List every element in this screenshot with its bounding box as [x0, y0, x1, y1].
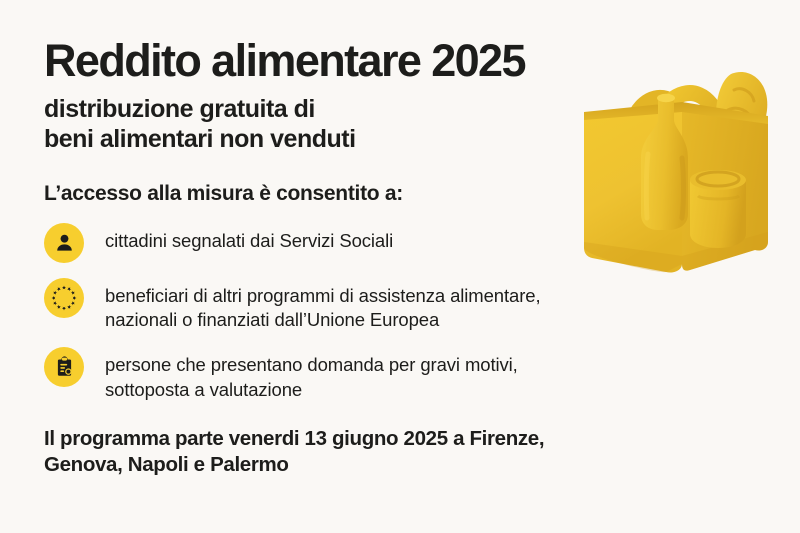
shopping-bag-illustration	[562, 28, 792, 288]
program-start-line-1: Il programma parte venerdi 13 giugno 202…	[44, 426, 664, 452]
program-start-line-2: Genova, Napoli e Palermo	[44, 452, 664, 478]
list-item-line-1: persone che presentano domanda per gravi…	[105, 353, 518, 377]
list-item-text: cittadini segnalati dai Servizi Sociali	[105, 222, 393, 253]
program-start-note: Il programma parte venerdi 13 giugno 202…	[44, 426, 664, 478]
poster-canvas: Reddito alimentare 2025 distribuzione gr…	[0, 0, 800, 533]
list-item-text: persone che presentano domanda per gravi…	[105, 346, 518, 401]
person-icon	[44, 223, 84, 263]
list-item: persone che presentano domanda per gravi…	[44, 346, 664, 401]
list-item-line-2: sottoposta a valutazione	[105, 378, 518, 402]
list-item-line-1: cittadini segnalati dai Servizi Sociali	[105, 229, 393, 253]
clipboard-review-icon	[44, 347, 84, 387]
list-item-line-1: beneficiari di altri programmi di assist…	[105, 284, 541, 308]
eu-stars-icon	[44, 278, 84, 318]
food-can	[690, 170, 746, 248]
list-item-text: beneficiari di altri programmi di assist…	[105, 277, 541, 332]
list-item-line-2: nazionali o finanziati dall’Unione Europ…	[105, 308, 541, 332]
